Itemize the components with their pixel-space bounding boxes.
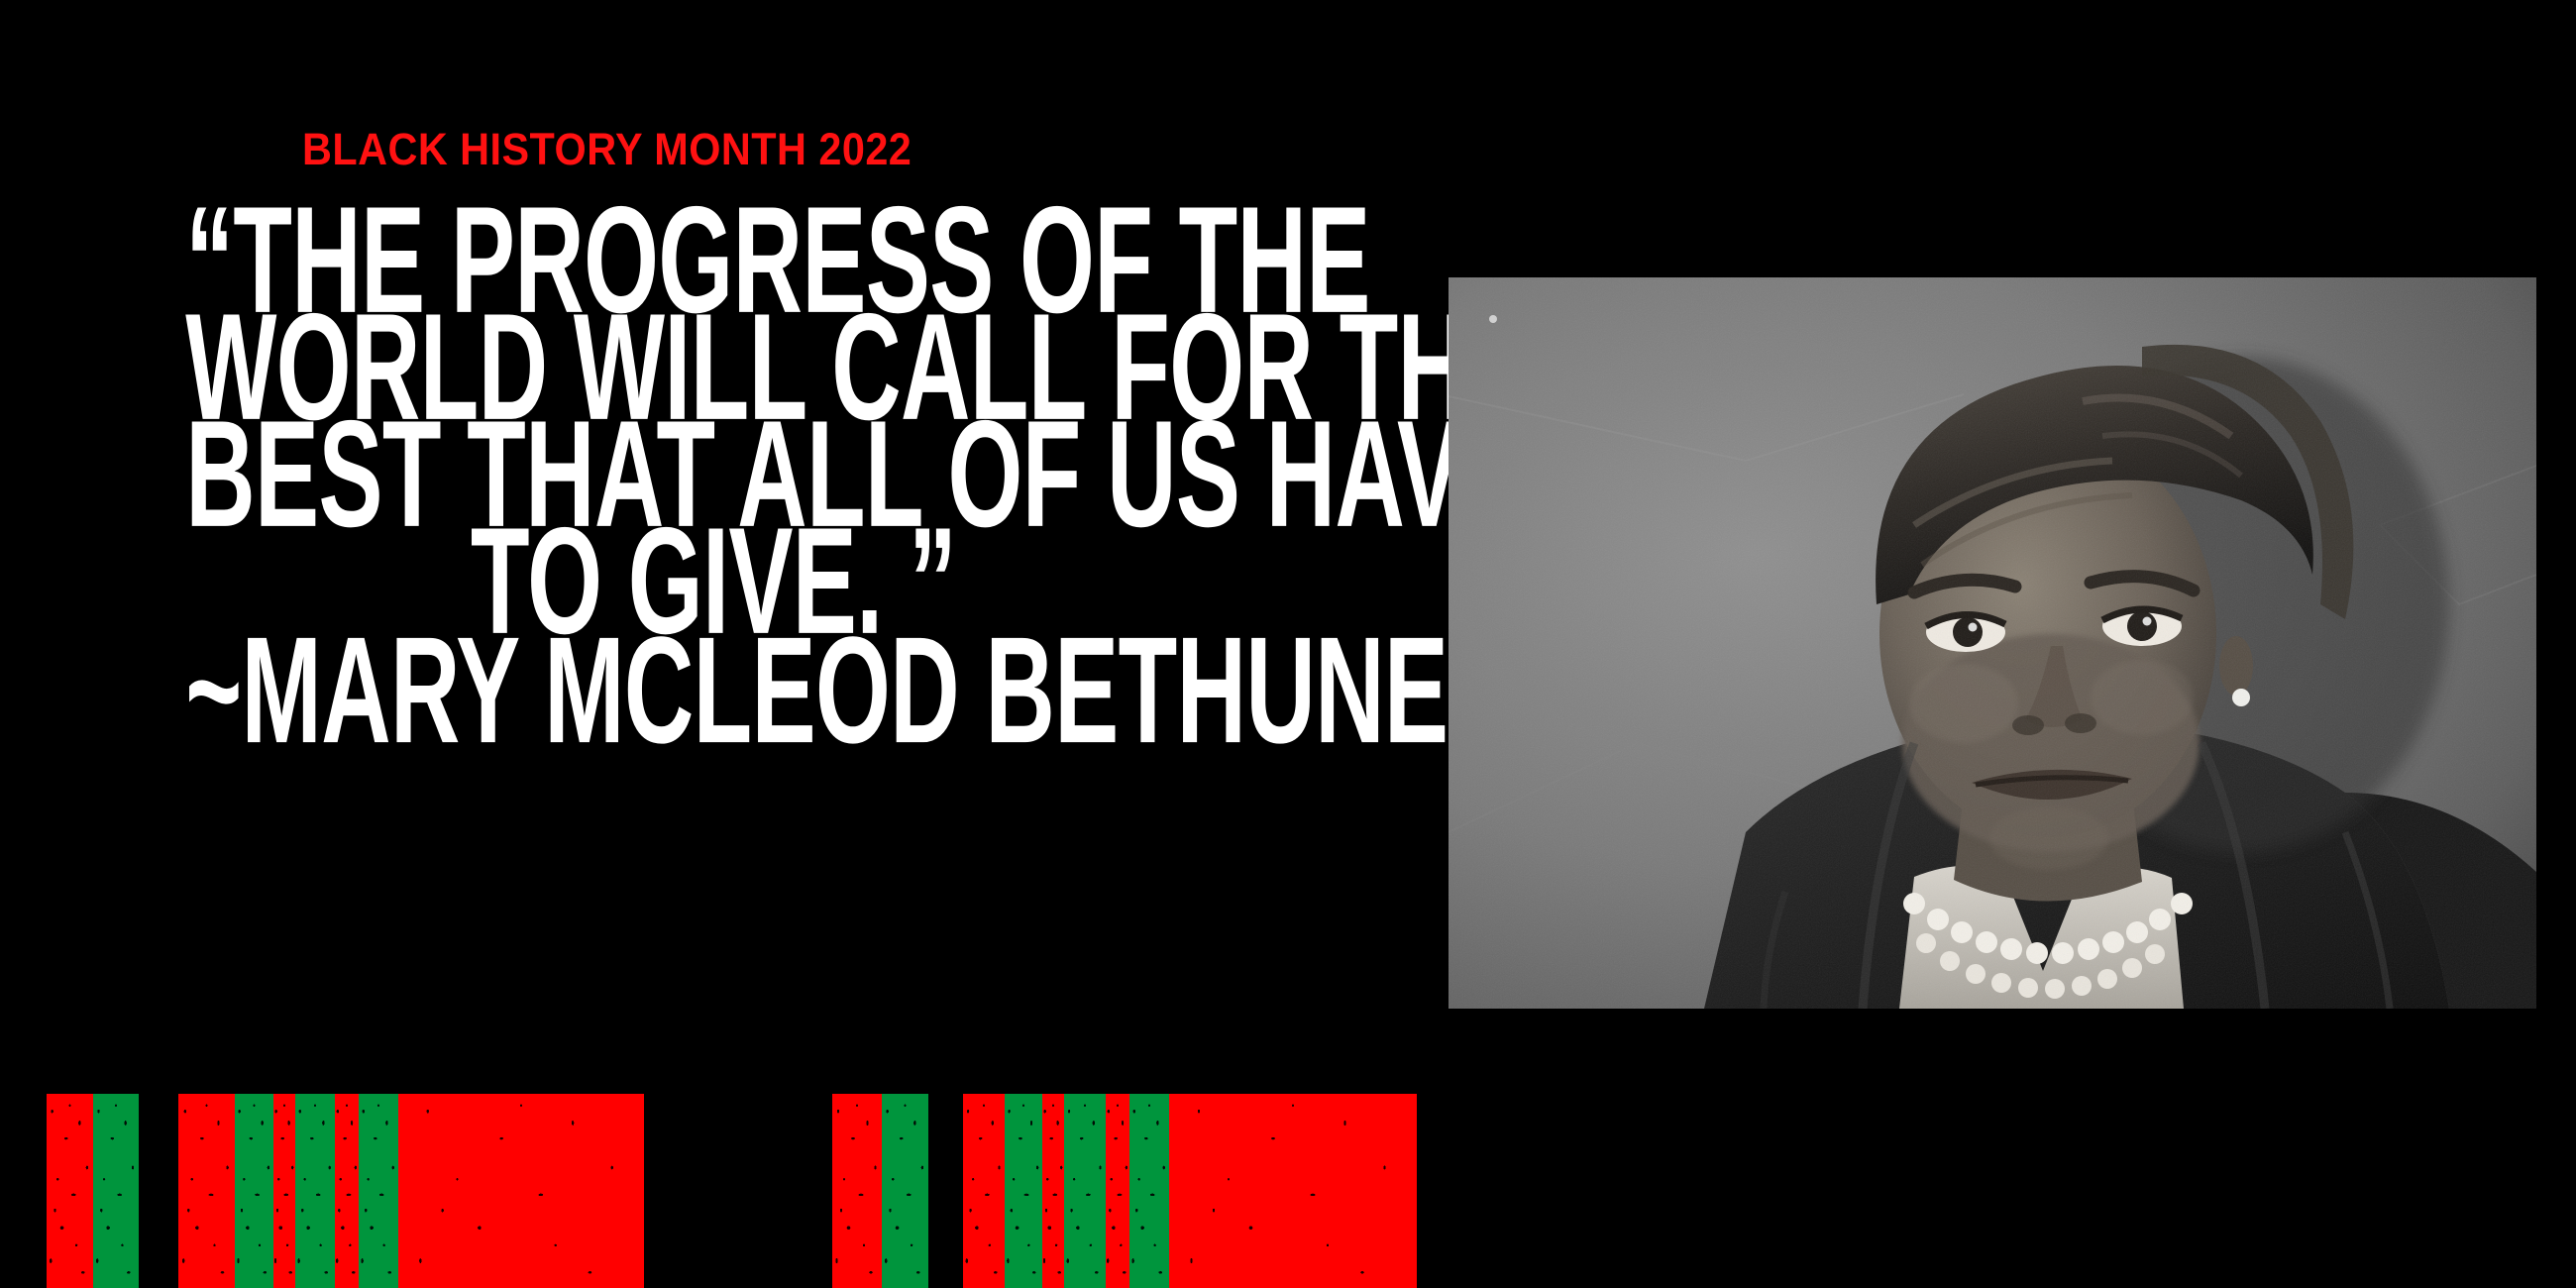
stripe-green-1 — [93, 1094, 139, 1288]
stripe-grain-texture — [1042, 1094, 1064, 1288]
stripe-green-5 — [295, 1094, 335, 1288]
stripe-red-19 — [1169, 1094, 1417, 1288]
eyebrow-heading: BLACK HISTORY MONTH 2022 — [302, 127, 912, 171]
stripe-red-10 — [398, 1094, 644, 1288]
quote-attribution: ~MARY MCLEOD BETHUNE — [185, 626, 1241, 755]
stripe-grain-texture — [47, 1094, 93, 1288]
stripe-green-14 — [1005, 1094, 1042, 1288]
stripe-grain-texture — [882, 1094, 928, 1288]
stripe-red-2 — [178, 1094, 235, 1288]
pan-african-stripe-band — [0, 1094, 1437, 1288]
stripe-grain-texture — [93, 1094, 139, 1288]
stripe-grain-texture — [832, 1094, 882, 1288]
stripe-green-18 — [1129, 1094, 1169, 1288]
stripe-red-0 — [47, 1094, 93, 1288]
stripe-grain-texture — [273, 1094, 295, 1288]
stripe-grain-texture — [1064, 1094, 1106, 1288]
stripe-grain-texture — [1005, 1094, 1042, 1288]
stripe-grain-texture — [359, 1094, 398, 1288]
stripe-red-11 — [832, 1094, 882, 1288]
stripe-red-13 — [963, 1094, 1005, 1288]
stripe-grain-texture — [335, 1094, 359, 1288]
stripe-green-3 — [235, 1094, 273, 1288]
stripe-grain-texture — [1129, 1094, 1169, 1288]
stripe-green-16 — [1064, 1094, 1106, 1288]
quote-block: “THE PROGRESS OF THE WORLD WILL CALL FOR… — [0, 198, 1427, 737]
stripe-green-12 — [882, 1094, 928, 1288]
text-column: BLACK HISTORY MONTH 2022 “THE PROGRESS O… — [0, 0, 1437, 1288]
black-history-month-poster: BLACK HISTORY MONTH 2022 “THE PROGRESS O… — [0, 0, 2576, 1288]
portrait-photo — [1449, 277, 2536, 1009]
stripe-red-17 — [1106, 1094, 1129, 1288]
stripe-grain-texture — [1106, 1094, 1129, 1288]
stripe-red-15 — [1042, 1094, 1064, 1288]
stripe-grain-texture — [1169, 1094, 1417, 1288]
stripe-grain-texture — [398, 1094, 644, 1288]
stripe-green-7 — [359, 1094, 398, 1288]
stripe-grain-texture — [235, 1094, 273, 1288]
stripe-grain-texture — [178, 1094, 235, 1288]
stripe-grain-texture — [963, 1094, 1005, 1288]
stripe-red-4 — [273, 1094, 295, 1288]
portrait-photo-image — [1449, 277, 2536, 1009]
stripe-grain-texture — [295, 1094, 335, 1288]
stripe-red-6 — [335, 1094, 359, 1288]
